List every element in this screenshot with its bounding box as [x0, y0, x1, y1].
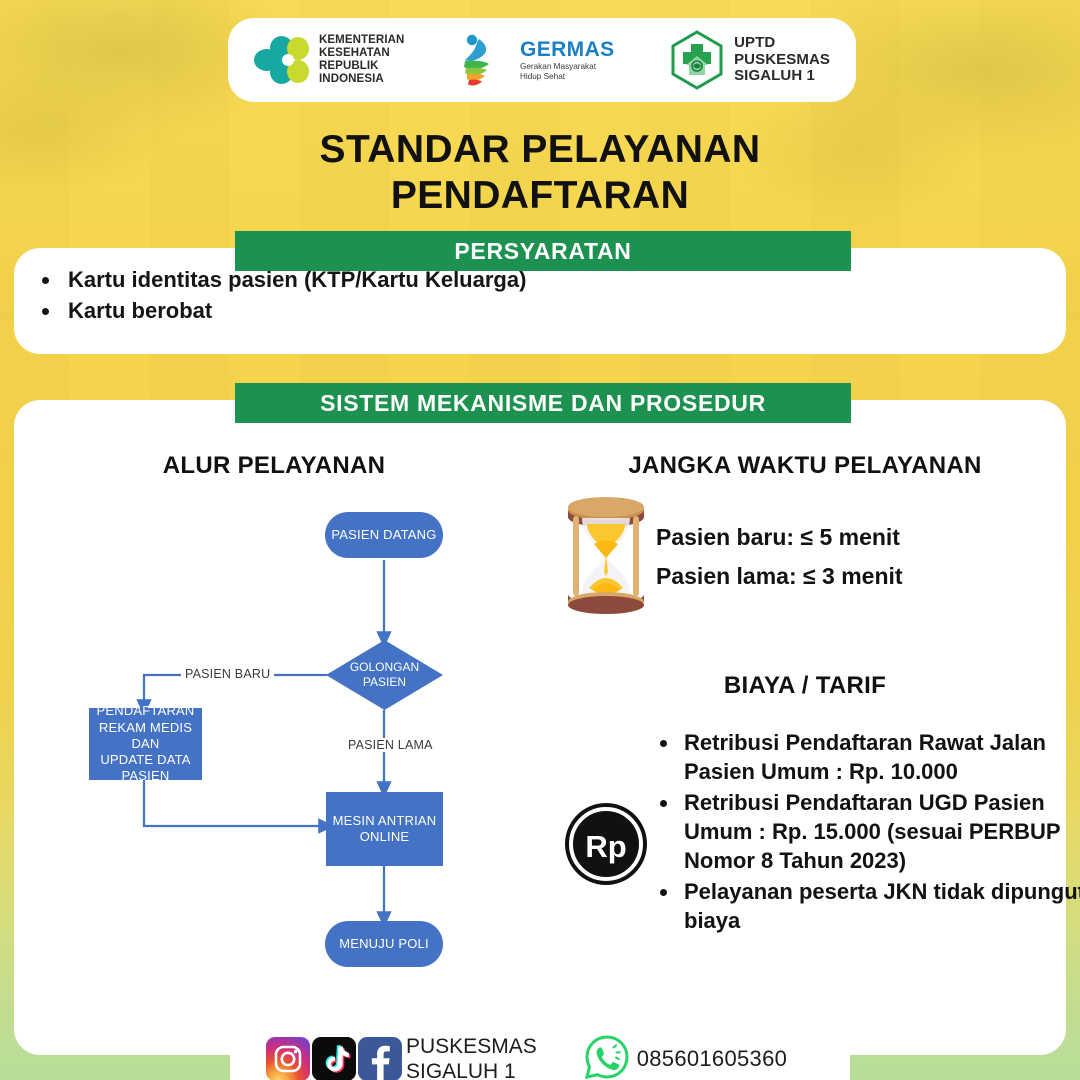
germas-logo-text: GERMAS Gerakan Masyarakat Hidup Sehat	[520, 39, 615, 82]
biaya-tarif-heading: BIAYA / TARIF	[545, 672, 1065, 700]
footer-card: PUSKESMAS SIGALUH 1 085601605360	[230, 1014, 850, 1080]
list-item: Pasien lama: ≤ 3 menit	[656, 557, 1056, 596]
flow-edge-label-pasien-lama: PASIEN LAMA	[344, 738, 437, 752]
germas-logo-icon	[459, 33, 511, 87]
flow-node-pasien-datang: PASIEN DATANG	[325, 512, 443, 558]
germas-logo-tagline: Gerakan Masyarakat Hidup Sehat	[520, 62, 615, 82]
jangka-waktu-heading: JANGKA WAKTU PELAYANAN	[545, 452, 1065, 480]
kemenkes-logo-icon	[254, 34, 310, 86]
germas-logo-label: GERMAS	[520, 39, 615, 60]
list-item: Kartu berobat	[62, 295, 1066, 326]
flow-node-menuju-poli: MENUJU POLI	[325, 921, 443, 967]
jangka-waktu-list: Pasien baru: ≤ 5 menit Pasien lama: ≤ 3 …	[656, 518, 1056, 595]
biaya-tarif-list: Retribusi Pendaftaran Rawat Jalan Pasien…	[650, 728, 1080, 937]
logo-germas: GERMAS Gerakan Masyarakat Hidup Sehat	[459, 33, 615, 87]
kemenkes-logo-label: KEMENTERIAN KESEHATAN REPUBLIK INDONESIA	[319, 34, 404, 86]
whatsapp-icon[interactable]	[583, 1033, 631, 1080]
logo-uptd-puskesmas: UPTD PUSKESMAS SIGALUH 1	[669, 30, 830, 90]
list-item: Pasien baru: ≤ 5 menit	[656, 518, 1056, 557]
persyaratan-banner: PERSYARATAN	[235, 231, 851, 271]
tiktok-icon[interactable]	[312, 1037, 356, 1080]
page-title: STANDAR PELAYANAN PENDAFTARAN	[0, 127, 1080, 220]
rupiah-coin-icon: Rp	[563, 801, 649, 887]
alur-pelayanan-heading: ALUR PELAYANAN	[14, 452, 534, 480]
list-item: Pelayanan peserta JKN tidak dipungut bia…	[680, 877, 1080, 935]
uptd-puskesmas-logo-icon	[669, 30, 725, 90]
flow-node-pendaftaran-rekam-medis: PENDAFTARAN REKAM MEDIS DAN UPDATE DATA …	[89, 708, 202, 780]
footer-whatsapp: 085601605360	[583, 1033, 787, 1080]
flow-node-golongan-pasien-label: GOLONGAN PASIEN	[326, 640, 443, 710]
flow-node-golongan-pasien: GOLONGAN PASIEN	[326, 640, 443, 710]
alur-pelayanan-flowchart: PASIEN DATANG GOLONGAN PASIEN PENDAFTARA…	[14, 490, 554, 1000]
flow-edge-label-pasien-baru: PASIEN BARU	[181, 667, 274, 681]
instagram-icon[interactable]	[266, 1037, 310, 1080]
uptd-puskesmas-logo-label: UPTD PUSKESMAS SIGALUH 1	[734, 35, 830, 86]
list-item: Retribusi Pendaftaran Rawat Jalan Pasien…	[680, 728, 1080, 786]
hourglass-icon	[560, 496, 652, 614]
logo-bar: KEMENTERIAN KESEHATAN REPUBLIK INDONESIA…	[228, 18, 856, 102]
prosedur-banner: SISTEM MEKANISME DAN PROSEDUR	[235, 383, 851, 423]
rupiah-coin-label: Rp	[585, 829, 626, 864]
list-item: Retribusi Pendaftaran UGD Pasien Umum : …	[680, 788, 1080, 875]
logo-kemenkes: KEMENTERIAN KESEHATAN REPUBLIK INDONESIA	[254, 34, 404, 86]
footer-handle: PUSKESMAS SIGALUH 1	[406, 1034, 537, 1080]
flow-node-mesin-antrian-online: MESIN ANTRIAN ONLINE	[326, 792, 443, 866]
footer-phone: 085601605360	[637, 1046, 787, 1072]
facebook-icon[interactable]	[358, 1037, 402, 1080]
infographic-poster: KEMENTERIAN KESEHATAN REPUBLIK INDONESIA…	[0, 0, 1080, 1080]
